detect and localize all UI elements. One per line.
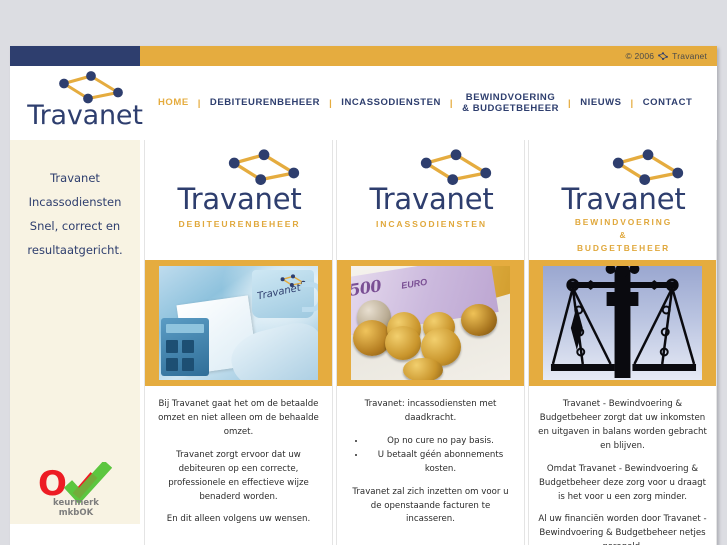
- desk-calculator-mug-photo: Travanet: [159, 266, 318, 380]
- column-logo-subtitle: BEWINDVOERING & BUDGETBEHEER: [529, 216, 717, 255]
- list-item: Op no cure no pay basis.: [366, 435, 515, 449]
- paragraph: Travanet zal zich inzetten om voor u de …: [346, 486, 515, 528]
- photo-frame: [529, 260, 716, 386]
- nav-item-contact[interactable]: CONTACT: [643, 97, 693, 108]
- travanet-mug-shape: Travanet: [252, 270, 314, 318]
- tagline-line-2: Incassodiensten: [19, 190, 131, 214]
- nav-separator: |: [631, 98, 634, 109]
- main-navigation: HOME | DEBITEURENBEHEER | INCASSODIENSTE…: [150, 66, 717, 140]
- tagline-line-3: Snel, correct en: [19, 214, 131, 238]
- nav-item-nieuws[interactable]: NIEUWS: [580, 97, 621, 108]
- keurmerk-label-line-2: mkbOK: [32, 508, 120, 518]
- nav-item-line-2: & BUDGETBEHEER: [462, 103, 559, 114]
- paragraph: Travanet: incassodiensten met daadkracht…: [346, 398, 515, 426]
- travanet-network-logo-icon: [656, 51, 670, 62]
- column-incassodiensten: Travanet INCASSODIENSTEN 500 EURO: [336, 140, 525, 545]
- column-logo-wordmark: Travanet: [337, 182, 526, 216]
- column-bewindvoering-budgetbeheer: Travanet BEWINDVOERING & BUDGETBEHEER: [528, 140, 717, 545]
- column-logo-panel: Travanet DEBITEURENBEHEER: [145, 140, 332, 260]
- paragraph: En dit alleen volgens uw wensen.: [154, 513, 323, 527]
- column-debiteurenbeheer: Travanet DEBITEURENBEHEER: [144, 140, 333, 545]
- coin-shape: [461, 304, 497, 336]
- column-logo-wordmark: Travanet: [529, 182, 717, 216]
- top-bar-navy-block: [10, 46, 140, 66]
- nav-separator: |: [568, 98, 571, 109]
- content-columns: Travanet DEBITEURENBEHEER: [140, 140, 717, 545]
- site-header: Travanet HOME | DEBITEURENBEHEER | INCAS…: [10, 66, 717, 140]
- keurmerk-label: keurmerk mkbOK: [32, 498, 120, 518]
- photo-frame: Travanet: [145, 260, 332, 386]
- column-logo-wordmark: Travanet: [145, 182, 334, 216]
- tagline-line-4: resultaatgericht.: [19, 238, 131, 262]
- column-text-block: Travanet: incassodiensten met daadkracht…: [337, 386, 524, 527]
- paragraph: Omdat Travanet - Bewindvoering & Budgetb…: [538, 463, 707, 505]
- nav-item-debiteurenbeheer[interactable]: DEBITEURENBEHEER: [210, 97, 320, 108]
- coin-shape: [403, 358, 443, 380]
- keurmerk-label-line-1: keurmerk: [32, 498, 120, 508]
- euro-money-coins-photo: 500 EURO: [351, 266, 510, 380]
- paragraph: Travanet zorgt ervoor dat uw debiteuren …: [154, 449, 323, 505]
- site-logo-wordmark: Travanet: [22, 100, 148, 131]
- list-item: U betaalt géén abonnements kosten.: [366, 449, 515, 477]
- left-sidebar: Travanet Incassodiensten Snel, correct e…: [10, 140, 140, 524]
- paragraph: Travanet - Bewindvoering & Budgetbeheer …: [538, 398, 707, 454]
- column-logo-panel: Travanet BEWINDVOERING & BUDGETBEHEER: [529, 140, 716, 260]
- column-logo-subtitle-line-1: BEWINDVOERING: [529, 216, 717, 229]
- column-logo-subtitle: DEBITEURENBEHEER: [145, 218, 334, 231]
- column-text-block: Bij Travanet gaat het om de betaalde omz…: [145, 386, 332, 527]
- top-bar: © 2006 Travanet: [10, 46, 717, 66]
- scales-of-justice-photo: [543, 266, 702, 380]
- nav-item-home[interactable]: HOME: [158, 97, 189, 108]
- copyright-brand: Travanet: [672, 51, 707, 61]
- photo-frame: 500 EURO: [337, 260, 524, 386]
- scales-of-justice-icon: [543, 266, 702, 380]
- feature-list: Op no cure no pay basis. U betaalt géén …: [346, 435, 515, 477]
- sidebar-tagline: Travanet Incassodiensten Snel, correct e…: [10, 140, 140, 263]
- nav-item-incassodiensten[interactable]: INCASSODIENSTEN: [341, 97, 441, 108]
- coin-shape: [385, 326, 421, 360]
- banknote-currency: EURO: [401, 277, 428, 291]
- nav-separator: |: [329, 98, 332, 109]
- nav-item-line-1: BEWINDVOERING: [466, 92, 556, 103]
- nav-separator: |: [198, 98, 201, 109]
- calculator-shape: [161, 318, 209, 376]
- page-container: © 2006 Travanet: [10, 46, 717, 545]
- site-logo-link[interactable]: Travanet: [22, 68, 148, 138]
- tagline-line-1: Travanet: [19, 166, 131, 190]
- nav-item-bewindvoering-budgetbeheer[interactable]: BEWINDVOERING & BUDGETBEHEER: [462, 92, 559, 114]
- column-logo-subtitle-line-1: INCASSODIENSTEN: [337, 218, 526, 231]
- column-logo-subtitle-line-2: &: [529, 229, 717, 242]
- paragraph: Bij Travanet gaat het om de betaalde omz…: [154, 398, 323, 440]
- paragraph: Al uw financiën worden door Travanet - B…: [538, 513, 707, 545]
- banknote-value: 500: [351, 276, 382, 300]
- mkbok-keurmerk-logo: O keurmerk mkbOK: [32, 462, 120, 524]
- top-bar-gold-block: © 2006 Travanet: [140, 46, 717, 66]
- body-area: Travanet Incassodiensten Snel, correct e…: [10, 140, 717, 545]
- copyright-notice: © 2006 Travanet: [625, 50, 707, 61]
- column-logo-panel: Travanet INCASSODIENSTEN: [337, 140, 524, 260]
- column-logo-subtitle-line-3: BUDGETBEHEER: [529, 242, 717, 255]
- copyright-text: © 2006: [625, 51, 654, 61]
- column-text-block: Travanet - Bewindvoering & Budgetbeheer …: [529, 386, 716, 545]
- nav-separator: |: [450, 98, 453, 109]
- column-logo-subtitle-line-1: DEBITEURENBEHEER: [145, 218, 334, 231]
- column-logo-subtitle: INCASSODIENSTEN: [337, 218, 526, 231]
